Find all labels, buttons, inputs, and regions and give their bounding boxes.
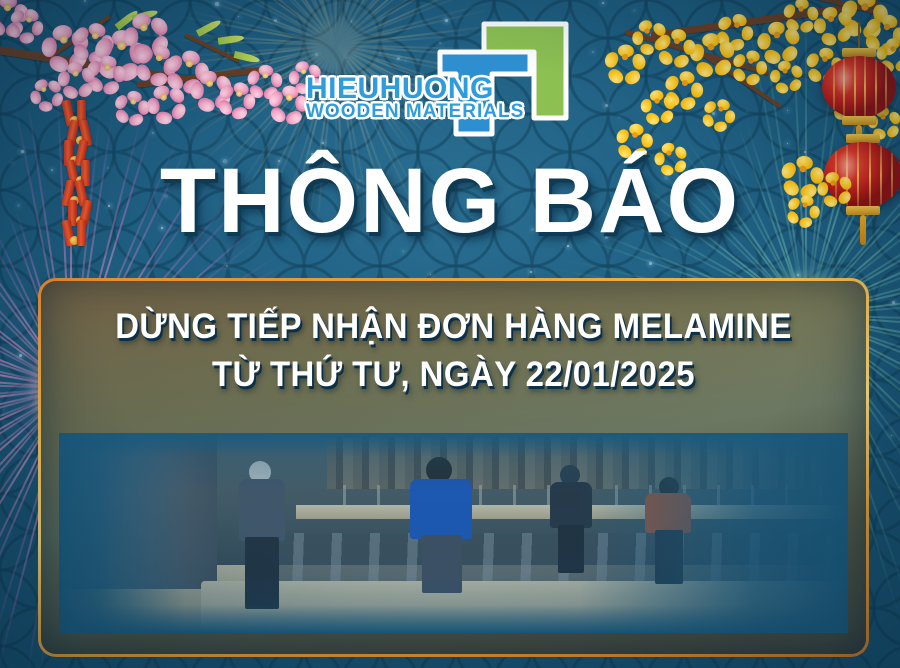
poster-vignette	[0, 0, 900, 668]
tet-announcement-poster: HIEUHUONG WOODEN MATERIALS THÔNG BÁO DỪN…	[0, 0, 900, 668]
